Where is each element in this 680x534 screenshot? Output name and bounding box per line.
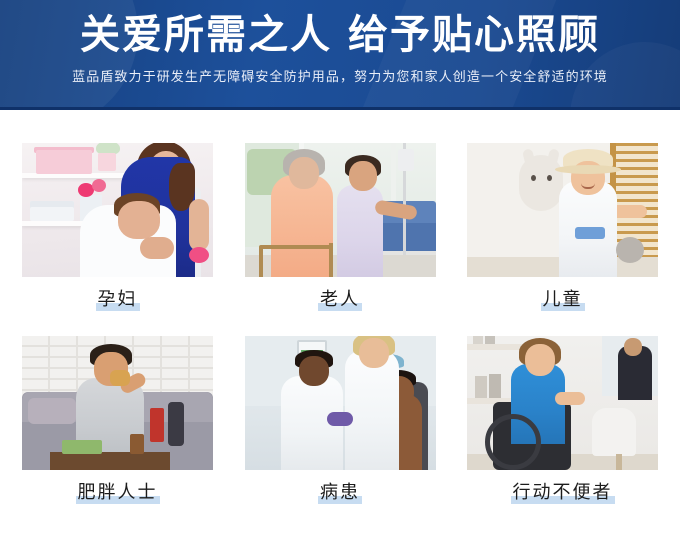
page-subtitle: 蓝品盾致力于研发生产无障碍安全防护用品，努力为您和家人创造一个安全舒适的环境 xyxy=(0,68,680,86)
caption: 孕妇 xyxy=(22,288,213,311)
caption: 行动不便者 xyxy=(467,481,658,504)
elderly-person-photo xyxy=(245,143,436,277)
grid-row: 孕妇 老人 xyxy=(22,143,658,311)
audience-grid: 孕妇 老人 xyxy=(0,110,680,504)
grid-cell-mobility-impaired[interactable]: 行动不便者 xyxy=(467,336,658,504)
page-title-part2: 给予贴心照顾 xyxy=(348,13,600,57)
grid-cell-obese-person[interactable]: 肥胖人士 xyxy=(22,336,213,504)
header-banner: 关爱所需之人给予贴心照顾 蓝品盾致力于研发生产无障碍安全防护用品，努力为您和家人… xyxy=(0,0,680,110)
grid-row: 肥胖人士 病患 xyxy=(22,336,658,504)
caption: 老人 xyxy=(245,288,436,311)
obese-person-photo xyxy=(22,336,213,470)
grid-cell-patient[interactable]: 病患 xyxy=(245,336,436,504)
caption: 病患 xyxy=(245,481,436,504)
pregnant-woman-photo xyxy=(22,143,213,277)
caption: 儿童 xyxy=(467,288,658,311)
grid-cell-pregnant-woman[interactable]: 孕妇 xyxy=(22,143,213,311)
child-photo xyxy=(467,143,658,277)
patient-photo xyxy=(245,336,436,470)
mobility-impaired-photo xyxy=(467,336,658,470)
page-title: 关爱所需之人给予贴心照顾 xyxy=(0,12,680,58)
grid-cell-child[interactable]: 儿童 xyxy=(467,143,658,311)
page-title-part1: 关爱所需之人 xyxy=(80,13,332,57)
caption: 肥胖人士 xyxy=(22,481,213,504)
grid-cell-elderly[interactable]: 老人 xyxy=(245,143,436,311)
